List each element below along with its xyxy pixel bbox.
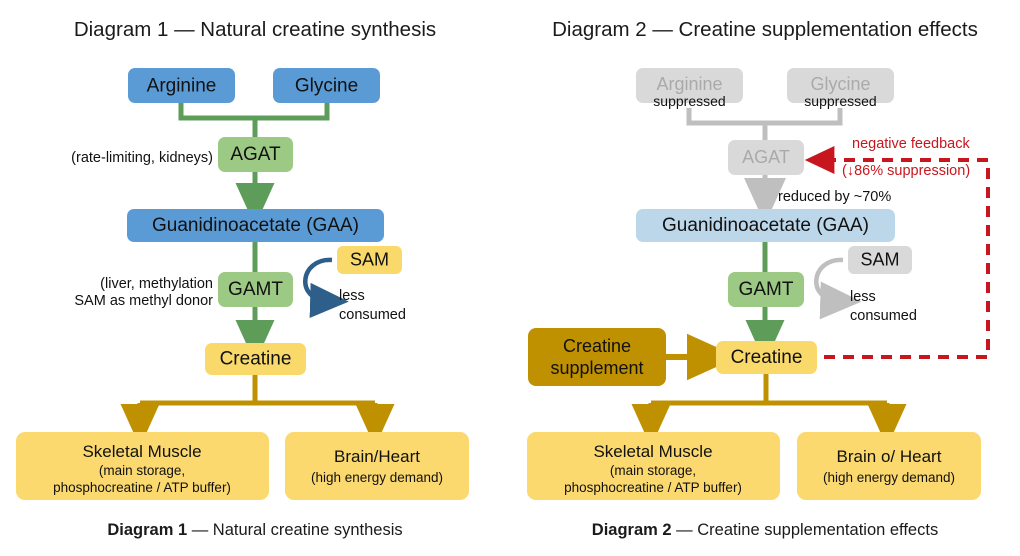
node-sam[interactable]: SAM — [848, 246, 912, 274]
output-skeletal-muscle[interactable]: Skeletal Muscle (main storage, phosphocr… — [16, 432, 269, 500]
diagram-1-caption: Diagram 1 — Natural creatine synthesis — [107, 521, 402, 539]
node-agat-label: AGAT — [230, 144, 281, 165]
node-arginine-label: Arginine — [147, 76, 217, 97]
sam-note-line2: consumed — [850, 308, 917, 324]
gaa-reduction-note: reduced by ~70% — [778, 189, 891, 205]
node-sam-label: SAM — [350, 249, 389, 269]
creatine-distribution-connector — [140, 375, 375, 425]
node-creatine-supplement[interactable]: Creatine supplement — [528, 328, 666, 386]
diagram-2-caption: Diagram 2 — Creatine supplementation eff… — [592, 521, 938, 539]
node-creatine-label: Creatine — [731, 347, 803, 368]
node-sam-label: SAM — [860, 249, 899, 269]
output-brain-heart[interactable]: Brain o/ Heart (high energy demand) — [797, 432, 981, 500]
sam-note-line1: less — [850, 289, 876, 305]
output-brain-heart-sub1: (high energy demand) — [311, 470, 443, 485]
node-arginine-label: Arginine — [656, 74, 722, 94]
node-gaa[interactable]: Guanidinoacetate (GAA) — [636, 209, 895, 242]
sam-cofactor-arrow — [305, 260, 332, 301]
diagram-canvas: Diagram 1 — Natural creatine synthesis A… — [0, 0, 1020, 556]
node-gaa[interactable]: Guanidinoacetate (GAA) — [127, 209, 384, 242]
output-skeletal-muscle-sub1: (main storage, — [99, 463, 185, 478]
output-brain-heart-title: Brain o/ Heart — [837, 447, 942, 466]
node-creatine-supplement-line2: supplement — [550, 358, 643, 378]
output-skeletal-muscle[interactable]: Skeletal Muscle (main storage, phosphocr… — [527, 432, 780, 500]
creatine-distribution-connector — [651, 374, 887, 425]
node-creatine[interactable]: Creatine — [205, 343, 306, 375]
output-brain-heart-title: Brain/Heart — [334, 447, 420, 466]
substrate-to-agat-connector — [689, 108, 840, 140]
node-gamt[interactable]: GAMT — [728, 272, 804, 307]
node-glycine[interactable]: Glycine — [273, 68, 380, 103]
node-gamt[interactable]: GAMT — [218, 272, 293, 307]
output-skeletal-muscle-sub1: (main storage, — [610, 463, 696, 478]
node-agat[interactable]: AGAT — [728, 140, 804, 175]
agat-note: (rate-limiting, kidneys) — [71, 150, 213, 166]
negative-feedback-label: negative feedback — [852, 136, 970, 152]
sam-note-line2: consumed — [339, 307, 406, 323]
diagram-1-caption-bold: Diagram 1 — [107, 521, 187, 539]
output-skeletal-muscle-title: Skeletal Muscle — [82, 442, 201, 461]
node-glycine-label: Glycine — [295, 76, 358, 97]
node-gamt-label: GAMT — [739, 279, 794, 300]
output-brain-heart[interactable]: Brain/Heart (high energy demand) — [285, 432, 469, 500]
sam-note-line1: less — [339, 288, 365, 304]
node-gaa-label: Guanidinoacetate (GAA) — [662, 215, 869, 236]
arginine-state-label: suppressed — [653, 93, 725, 109]
node-gamt-label: GAMT — [228, 279, 283, 300]
node-creatine[interactable]: Creatine — [716, 341, 817, 374]
diagram-2-caption-rest: — Creatine supplementation effects — [672, 521, 939, 539]
diagram-2-caption-bold: Diagram 2 — [592, 521, 672, 539]
diagram-1-caption-rest: — Natural creatine synthesis — [187, 521, 403, 539]
node-creatine-supplement-line1: Creatine — [563, 336, 631, 356]
node-agat-label: AGAT — [742, 147, 790, 167]
output-skeletal-muscle-sub2: phosphocreatine / ATP buffer) — [564, 480, 742, 495]
output-skeletal-muscle-title: Skeletal Muscle — [593, 442, 712, 461]
substrate-to-agat-connector — [181, 103, 327, 137]
node-creatine-label: Creatine — [220, 349, 292, 370]
negative-feedback-value: (↓86% suppression) — [842, 163, 970, 179]
gamt-note-line1: (liver, methylation — [100, 276, 213, 292]
node-agat[interactable]: AGAT — [218, 137, 293, 172]
glycine-state-label: suppressed — [804, 93, 876, 109]
sam-cofactor-arrow — [816, 260, 843, 301]
node-gaa-label: Guanidinoacetate (GAA) — [152, 215, 359, 236]
node-arginine[interactable]: Arginine — [128, 68, 235, 103]
node-glycine-label: Glycine — [810, 74, 870, 94]
diagram-2-panel: Diagram 2 — Creatine supplementation eff… — [510, 0, 1020, 556]
output-brain-heart-sub1: (high energy demand) — [823, 470, 955, 485]
diagram-1-panel: Diagram 1 — Natural creatine synthesis A… — [0, 0, 510, 556]
output-skeletal-muscle-sub2: phosphocreatine / ATP buffer) — [53, 480, 231, 495]
diagram-1-title: Diagram 1 — Natural creatine synthesis — [74, 18, 436, 41]
gamt-note-line2: SAM as methyl donor — [74, 293, 213, 309]
node-sam[interactable]: SAM — [337, 246, 402, 274]
diagram-2-title: Diagram 2 — Creatine supplementation eff… — [552, 18, 978, 41]
